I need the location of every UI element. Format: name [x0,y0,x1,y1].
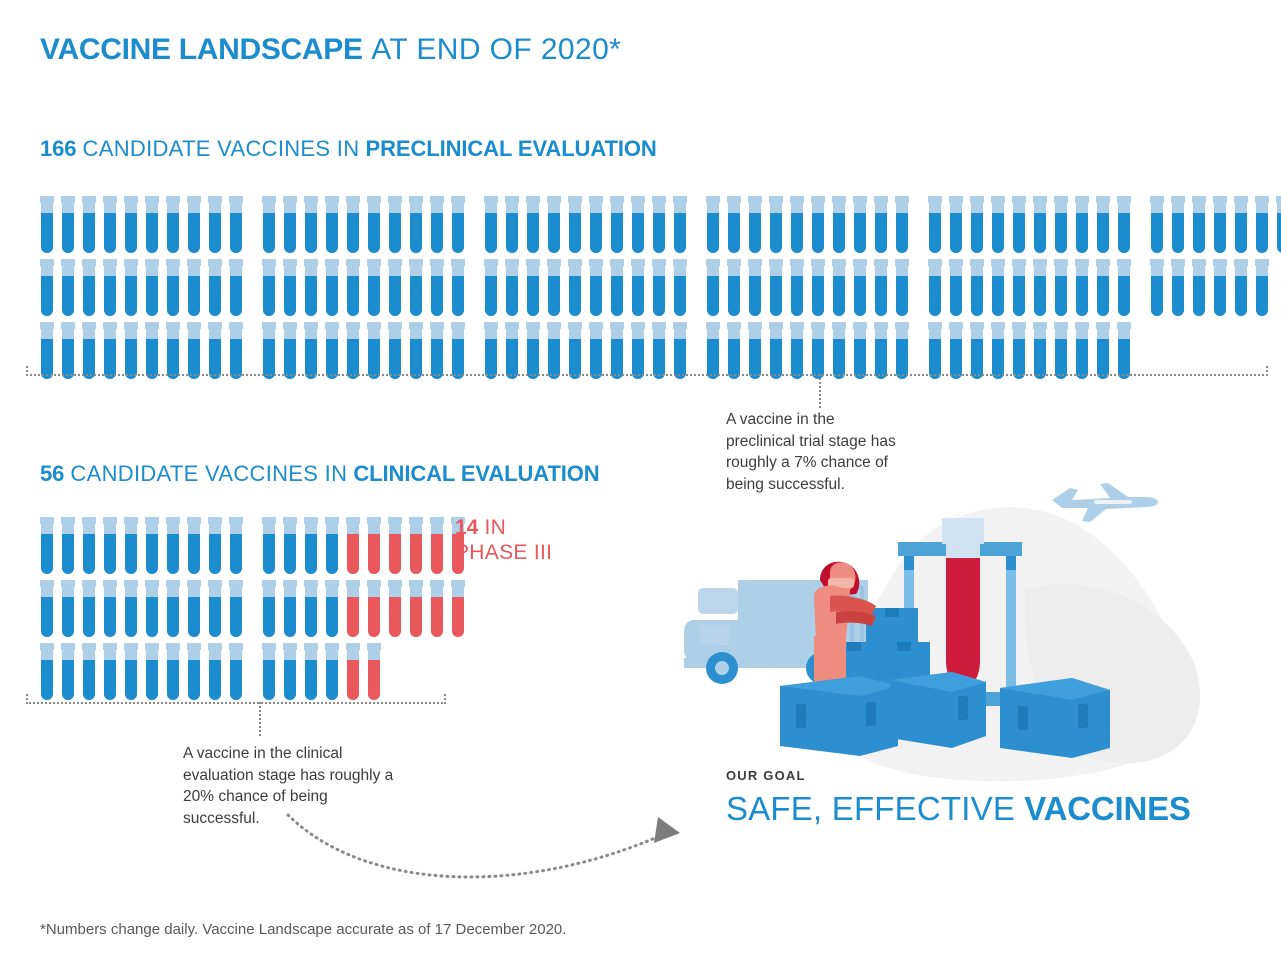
vial-fill [674,276,686,316]
vial-fill [833,276,845,316]
vial [631,259,645,316]
vial [1012,196,1026,253]
vial [727,322,741,379]
vial-cap [1054,259,1068,266]
vial-fill [1055,213,1067,253]
vial-fill [209,597,221,637]
preclinical-emphasis: PRECLINICAL EVALUATION [366,136,657,161]
vial-fill [506,339,518,379]
vial [304,196,318,253]
vial [526,259,540,316]
vial-fill [326,660,338,700]
vial-fill [431,534,443,574]
vial-fill [41,534,53,574]
vial [1117,196,1131,253]
vial-cap [124,196,138,203]
vial-cap [484,322,498,329]
vial-fill [1055,276,1067,316]
vial-fill [326,276,338,316]
vial-cap [928,322,942,329]
vial [367,322,381,379]
vial [610,196,624,253]
vial-fill [791,213,803,253]
vial-group [706,196,909,253]
vial [874,196,888,253]
vial-cap [346,580,360,587]
vial-cap [1033,322,1047,329]
vial [304,259,318,316]
vial-cap [568,322,582,329]
vial-fill [104,339,116,379]
vial [208,259,222,316]
vial-cap [283,580,297,587]
vial [346,196,360,253]
vial [283,580,297,637]
vial-cap [388,259,402,266]
vial [1033,259,1047,316]
vial [1096,259,1110,316]
vial-phase-three [367,517,381,574]
vial [61,259,75,316]
vial [484,322,498,379]
vial [790,259,804,316]
vial [325,580,339,637]
vial-cap [1192,259,1206,266]
vial-cap [748,259,762,266]
vial-fill [347,339,359,379]
vial-group [706,259,909,316]
vial-fill [347,213,359,253]
vial-cap [970,259,984,266]
vial-cap [949,322,963,329]
vial-fill [1214,276,1226,316]
vial-phase-three [430,580,444,637]
vial-fill [347,534,359,574]
vial-fill [230,213,242,253]
vial [229,643,243,700]
vial [991,322,1005,379]
vial [526,322,540,379]
vial [430,322,444,379]
vial-cap [262,322,276,329]
bracket-leader-line [819,374,821,408]
vial-fill [632,276,644,316]
vial-fill [452,276,464,316]
vial [673,259,687,316]
vial [145,196,159,253]
vial-fill [305,276,317,316]
vial-fill [284,597,296,637]
vial-row-clinical-3 [40,643,381,700]
vial-fill [611,213,623,253]
vial [283,322,297,379]
vial [790,322,804,379]
vial [1096,196,1110,253]
vial-cap [304,580,318,587]
vial [589,322,603,379]
vial-row-clinical-2 [40,580,465,637]
vial-cap [325,196,339,203]
goal-title-light: SAFE, EFFECTIVE [726,790,1015,827]
vial-fill [992,213,1004,253]
vial-fill [209,276,221,316]
vial-fill [611,276,623,316]
vial-fill [485,339,497,379]
vial [1012,322,1026,379]
vial-cap [1213,196,1227,203]
vial-cap [451,580,465,587]
vial-cap [82,643,96,650]
vial-fill [125,213,137,253]
vial [853,259,867,316]
vial-fill [506,213,518,253]
vial-fill [548,276,560,316]
vial-fill [1013,339,1025,379]
vial-fill [854,339,866,379]
vial-fill [326,534,338,574]
vial-cap [832,322,846,329]
vial [1255,196,1269,253]
vial [166,196,180,253]
vial [727,196,741,253]
vial-fill [971,339,983,379]
vial [673,196,687,253]
vial [262,196,276,253]
vial-cap [1054,322,1068,329]
vial-cap [1150,259,1164,266]
vial-fill [548,213,560,253]
vial-fill [263,339,275,379]
vial [187,322,201,379]
vial-fill [1172,213,1184,253]
vial [811,322,825,379]
vial [748,196,762,253]
vial-fill [305,339,317,379]
vial-fill [83,597,95,637]
cooler-case-left-icon [780,676,898,756]
vial-fill [41,339,53,379]
vial-fill [188,660,200,700]
vial-cap [991,322,1005,329]
vial-cap [367,517,381,524]
vial-cap [895,196,909,203]
vial-cap [388,580,402,587]
vial-fill [992,276,1004,316]
vial [208,196,222,253]
vial-fill [653,213,665,253]
vial [673,322,687,379]
vial [388,196,402,253]
vial-fill [209,339,221,379]
vial-fill [1118,339,1130,379]
vial-fill [410,213,422,253]
vial-fill [875,339,887,379]
vial-cap [262,580,276,587]
vial-cap [589,259,603,266]
vial-cap [1075,322,1089,329]
vial-fill [83,213,95,253]
vial-cap [283,517,297,524]
clinical-mid-text: CANDIDATE VACCINES IN [70,461,347,486]
vial-fill [854,276,866,316]
vial-fill [83,339,95,379]
vial-fill [83,534,95,574]
vial-group [484,196,687,253]
vial-fill [188,597,200,637]
vial-cap [208,580,222,587]
vial-fill [1256,276,1268,316]
vial [1276,196,1281,253]
vial [229,259,243,316]
vial-fill [368,276,380,316]
vial-cap [484,259,498,266]
vial [82,196,96,253]
vial-cap [631,259,645,266]
vial-cap [1255,259,1269,266]
vial [589,196,603,253]
vial [145,517,159,574]
bracket-tick-right [444,694,446,704]
vial-fill [431,213,443,253]
vial-cap [1117,259,1131,266]
vial [145,322,159,379]
vial [769,259,783,316]
vial-cap [451,322,465,329]
vial-fill [452,213,464,253]
vial [187,517,201,574]
vial [949,322,963,379]
vial-fill [284,276,296,316]
vial-cap [103,322,117,329]
vial-cap [706,196,720,203]
vial-group [928,259,1131,316]
vial [949,196,963,253]
vial-fill [749,276,761,316]
vial-fill [485,213,497,253]
vial-fill [104,660,116,700]
vial-cap [928,196,942,203]
vial [1171,196,1185,253]
vial [652,322,666,379]
vial-fill [263,276,275,316]
vial [61,196,75,253]
vial-cap [748,196,762,203]
vial-cap [229,196,243,203]
vial-fill [929,276,941,316]
vial [304,322,318,379]
vial [103,517,117,574]
vial-cap [187,259,201,266]
vial-cap [949,259,963,266]
vial-cap [631,322,645,329]
vial-cap [673,259,687,266]
goal-kicker: OUR GOAL [726,768,806,783]
vial-phase-three [367,580,381,637]
vial-cap [409,580,423,587]
vial [1033,196,1047,253]
vial-fill [305,213,317,253]
vial-fill [896,339,908,379]
vial-cap [124,580,138,587]
vial [367,259,381,316]
vial-cap [484,196,498,203]
vial-cap [208,259,222,266]
vial-group [262,196,465,253]
bracket-line [26,702,446,704]
vial [1075,322,1089,379]
vial-cap [103,517,117,524]
vial [1213,259,1227,316]
vial-fill [791,339,803,379]
vial-fill [263,213,275,253]
vial-group [928,322,1131,379]
vial-fill [326,213,338,253]
vial-cap [166,196,180,203]
vial-fill [188,213,200,253]
vial-fill [125,276,137,316]
vial-group [262,517,465,574]
vial [484,259,498,316]
vial-fill [929,339,941,379]
vial-cap [229,322,243,329]
vial-cap [505,259,519,266]
vial-cap [430,580,444,587]
vial [409,196,423,253]
vial-group [928,196,1131,253]
vial-fill [611,339,623,379]
vial [409,322,423,379]
vial [40,259,54,316]
vial [61,517,75,574]
vial [853,322,867,379]
vial-fill [971,276,983,316]
vial-fill [368,339,380,379]
vial-cap [673,196,687,203]
vial-cap [631,196,645,203]
vial-cap [610,322,624,329]
vial-cap [40,322,54,329]
vial [367,196,381,253]
vial [346,259,360,316]
vial-fill [230,534,242,574]
bracket-tick-left [26,694,28,704]
vial-phase-three [346,517,360,574]
vial-cap [790,196,804,203]
vial [124,580,138,637]
vial-fill [284,339,296,379]
vial [748,322,762,379]
vial [1150,259,1164,316]
vial-cap [652,322,666,329]
vial-fill [875,213,887,253]
vial [631,196,645,253]
vial-cap [1117,196,1131,203]
vial [568,196,582,253]
vial [874,322,888,379]
vial-fill [569,339,581,379]
vial-cap [304,643,318,650]
vial-fill [1076,213,1088,253]
phase-three-count: 14 [455,516,478,539]
vial [1012,259,1026,316]
vial-fill [83,660,95,700]
vial-cap [40,580,54,587]
vial-fill [854,213,866,253]
vial-fill [452,339,464,379]
vial [451,259,465,316]
vial [166,643,180,700]
vial [1192,259,1206,316]
vial [610,259,624,316]
vial-cap [325,643,339,650]
vial [145,580,159,637]
vial-fill [548,339,560,379]
vial-fill [1055,339,1067,379]
vial-cap [430,259,444,266]
vial [388,322,402,379]
vial [811,196,825,253]
vial-cap [40,517,54,524]
vial-phase-three [409,580,423,637]
vial-cap [325,322,339,329]
vial-fill [209,534,221,574]
vial-fill [896,213,908,253]
vial [1054,322,1068,379]
vial-fill [125,597,137,637]
vial-cap [526,259,540,266]
preclinical-count: 166 [40,136,76,161]
vial [325,643,339,700]
vial [187,643,201,700]
vial-fill [653,276,665,316]
vial-fill [263,597,275,637]
vial-cap [769,259,783,266]
vial [1033,322,1047,379]
vial-row-preclinical-1 [40,196,1281,253]
vial-cap [1171,259,1185,266]
vial-cap [145,259,159,266]
vial-cap [124,643,138,650]
vial-fill [368,660,380,700]
vial-fill [950,339,962,379]
vial [1096,322,1110,379]
vial-fill [83,276,95,316]
vial-cap [187,517,201,524]
vial-cap [1033,259,1047,266]
vial-phase-three [388,517,402,574]
vial-cap [409,322,423,329]
vial-cap [610,259,624,266]
vial-cap [283,196,297,203]
vial-cap [547,196,561,203]
vial-cap [103,196,117,203]
vial [928,322,942,379]
vial [187,196,201,253]
vial [1213,196,1227,253]
vial-cap [388,517,402,524]
vial-fill [1013,276,1025,316]
vial-fill [1151,276,1163,316]
vial-cap [103,580,117,587]
vial-cap [388,196,402,203]
vial-cap [145,196,159,203]
vial-cap [145,643,159,650]
vial-fill [410,276,422,316]
vial-group [40,580,243,637]
vial-fill [263,534,275,574]
vial-fill [389,534,401,574]
vial-fill [1256,213,1268,253]
